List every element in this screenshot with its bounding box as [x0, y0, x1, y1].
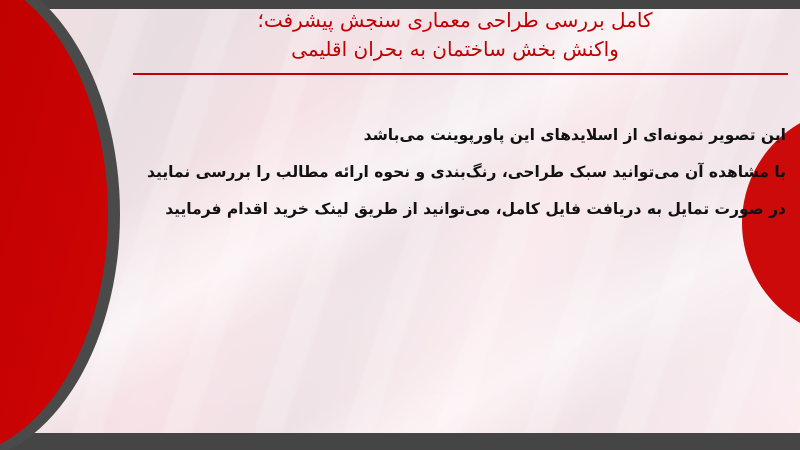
body-line-1: این تصویر نمونه‌ای از اسلایدهای این پاور…: [120, 122, 786, 159]
slide-title: کامل بررسی طراحی معماری سنجش پیشرفت؛ واک…: [120, 6, 790, 64]
body-line-3: در صورت تمایل به دریافت فایل کامل، می‌تو…: [120, 196, 786, 233]
title-line-1: کامل بررسی طراحی معماری سنجش پیشرفت؛: [120, 6, 790, 35]
slide-body: این تصویر نمونه‌ای از اسلایدهای این پاور…: [120, 122, 786, 233]
slide-content: کامل بررسی طراحی معماری سنجش پیشرفت؛ واک…: [0, 0, 800, 450]
presentation-slide: کامل بررسی طراحی معماری سنجش پیشرفت؛ واک…: [0, 0, 800, 450]
title-line-2: واکنش بخش ساختمان به بحران اقلیمی: [120, 35, 790, 64]
title-underline: [133, 73, 788, 75]
body-line-2: با مشاهده آن می‌توانید سبک طراحی، رنگ‌بن…: [120, 159, 786, 196]
